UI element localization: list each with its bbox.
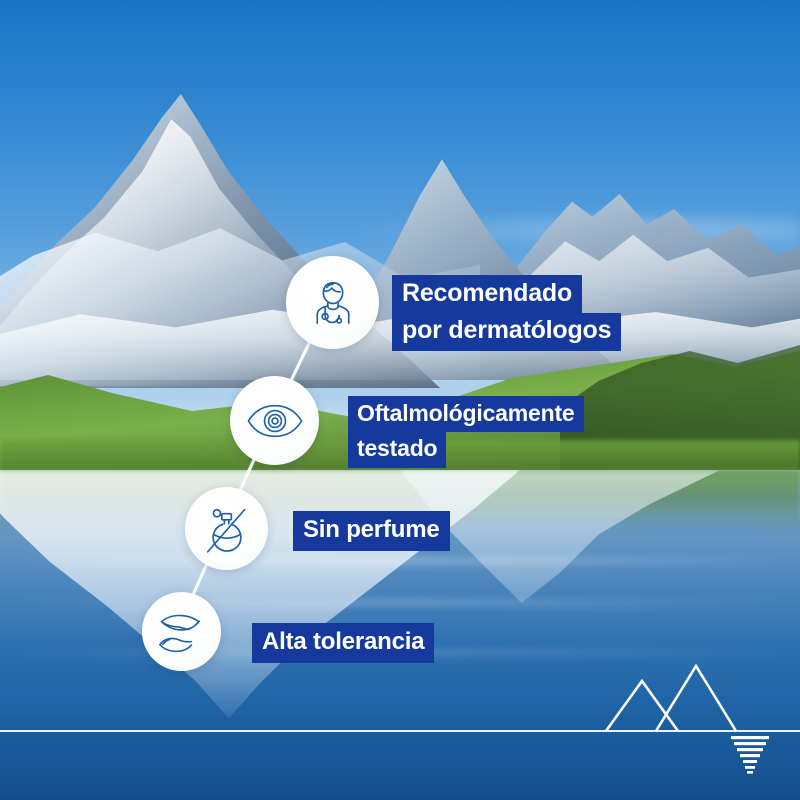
- label-oftalmologico: Oftalmológicamente testado: [348, 396, 584, 468]
- label-sin-perfume: Sin perfume: [293, 511, 450, 551]
- label-dermatologos: Recomendado por dermatólogos: [392, 275, 621, 351]
- badge-oftalmologico[interactable]: [230, 376, 319, 465]
- no-perfume-bottle-icon: [199, 501, 255, 557]
- doctor-stethoscope-icon: [305, 275, 361, 331]
- label-line: por dermatólogos: [392, 313, 621, 351]
- water-streak: [0, 556, 800, 566]
- promotional-banner: Recomendado por dermatólogos Oftalmológi…: [0, 0, 800, 800]
- label-line: Recomendado: [392, 275, 582, 313]
- label-line: Alta tolerancia: [252, 623, 434, 663]
- water-streak: [0, 598, 800, 608]
- leaf-in-hand-icon: [155, 608, 209, 656]
- label-line: testado: [348, 432, 446, 468]
- badge-alta-tolerancia[interactable]: [142, 592, 221, 671]
- badge-dermatologos[interactable]: [286, 256, 379, 349]
- badge-sin-perfume[interactable]: [185, 487, 268, 570]
- mountain-peaks-logo: [598, 652, 788, 782]
- label-alta-tolerancia: Alta tolerancia: [252, 623, 434, 663]
- eye-icon: [246, 401, 304, 441]
- label-line: Oftalmológicamente: [348, 396, 584, 432]
- label-line: Sin perfume: [293, 511, 450, 551]
